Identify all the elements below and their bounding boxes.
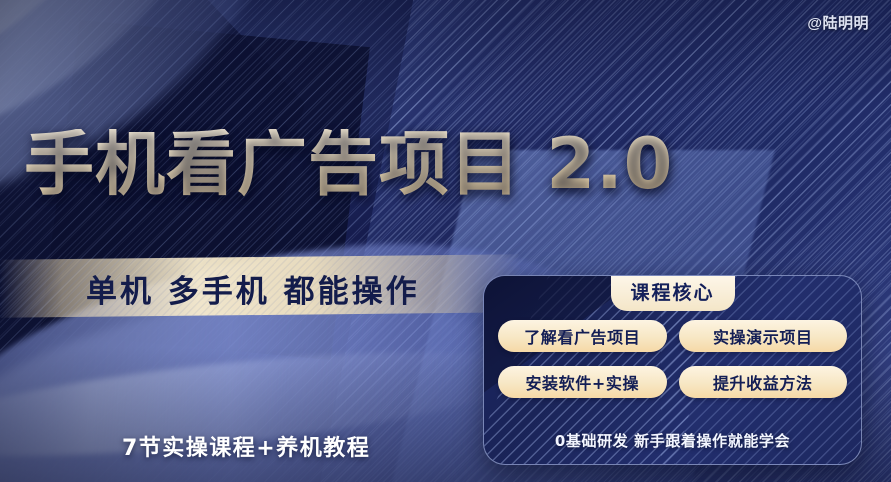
- card-header-tab: 课程核心: [610, 276, 734, 311]
- feature-pill[interactable]: 提升收益方法: [679, 366, 848, 398]
- feature-pill[interactable]: 安装软件+实操: [498, 366, 667, 398]
- page-title: 手机看广告项目 2.0: [24, 129, 814, 199]
- course-count-caption: 7节实操课程+养机教程: [122, 430, 370, 462]
- feature-pill[interactable]: 了解看广告项目: [498, 320, 667, 352]
- page-subtitle: 单机 多手机 都能操作: [86, 266, 420, 311]
- course-core-card: 课程核心 了解看广告项目 实操演示项目 安装软件+实操 提升收益方法 0基础研发…: [483, 275, 862, 465]
- author-watermark: @陆明明: [807, 12, 869, 33]
- card-footnote: 0基础研发 新手跟着操作就能学会: [484, 430, 861, 451]
- card-feature-pill-grid: 了解看广告项目 实操演示项目 安装软件+实操 提升收益方法: [498, 320, 847, 398]
- promo-poster: @陆明明 手机看广告项目 2.0 手机看广告项目 2.0 单机 多手机 都能操作…: [0, 0, 891, 482]
- feature-pill[interactable]: 实操演示项目: [679, 320, 848, 352]
